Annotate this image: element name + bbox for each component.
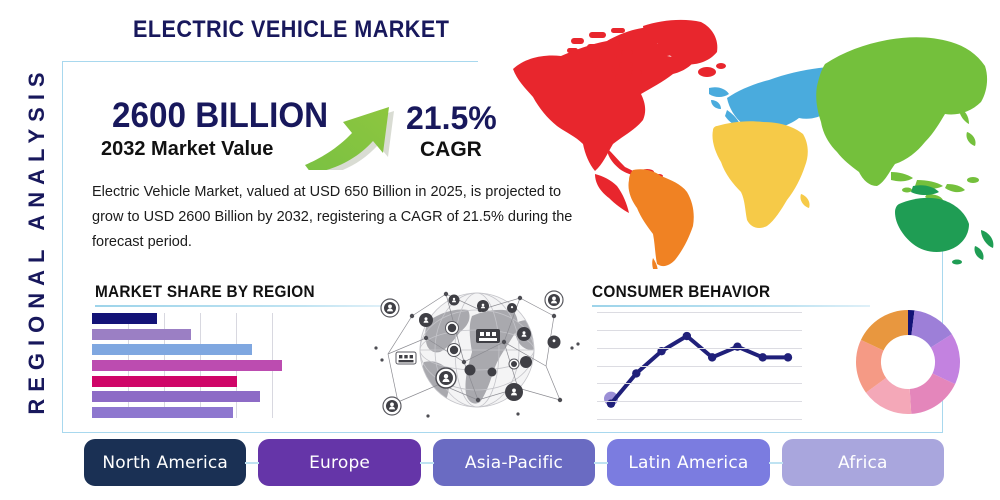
bar-segment (92, 360, 282, 371)
regional-distribution-donut-chart (852, 306, 964, 418)
gridline (597, 348, 802, 349)
growth-arrow-up-icon (299, 78, 414, 170)
vertical-section-label: REGIONAL ANALYSIS (24, 30, 60, 450)
consumer-behavior-line-chart (597, 312, 802, 419)
gridline (597, 312, 802, 313)
world-map-icon (495, 14, 1000, 269)
bar-segment (92, 376, 237, 387)
market-value-number: 2600 BILLION (112, 96, 328, 136)
gridline (597, 401, 802, 402)
page-title: ELECTRIC VEHICLE MARKET (133, 16, 449, 44)
bar-segment (92, 407, 233, 418)
line-chart-gridlines (597, 312, 802, 419)
gridline (597, 419, 802, 420)
region-button-africa[interactable]: Africa (782, 439, 944, 486)
bar-row (92, 360, 292, 371)
bar-row (92, 391, 292, 402)
region-connector (245, 462, 259, 464)
gridline (597, 383, 802, 384)
region-button-latin-america[interactable]: Latin America (607, 439, 769, 486)
section-rule-market-share (95, 305, 383, 307)
bar-segment (92, 391, 260, 402)
global-network-globe-icon (368, 276, 586, 424)
bar-row (92, 344, 292, 355)
section-title-consumer-behavior: CONSUMER BEHAVIOR (592, 283, 770, 302)
infographic-root: REGIONAL ANALYSIS ELECTRIC VEHICLE MARKE… (0, 0, 1000, 500)
cagr-value: 21.5% (406, 100, 497, 137)
region-button-europe[interactable]: Europe (258, 439, 420, 486)
region-button-asia-pacific[interactable]: Asia-Pacific (433, 439, 595, 486)
market-value-label: 2032 Market Value (101, 138, 273, 161)
region-connector (594, 462, 608, 464)
bar-segment (92, 344, 252, 355)
bar-chart-bars (92, 313, 292, 418)
bar-row (92, 376, 292, 387)
region-connector (769, 462, 783, 464)
section-title-market-share: MARKET SHARE BY REGION (95, 283, 315, 302)
market-share-bar-chart (92, 313, 292, 418)
region-connector (420, 462, 434, 464)
section-rule-consumer-behavior (592, 305, 870, 307)
bar-row (92, 407, 292, 418)
gridline (597, 330, 802, 331)
region-button-north-america[interactable]: North America (84, 439, 246, 486)
bar-segment (92, 313, 157, 324)
cagr-label: CAGR (420, 138, 482, 162)
bar-row (92, 329, 292, 340)
bar-segment (92, 329, 191, 340)
bar-row (92, 313, 292, 324)
gridline (597, 366, 802, 367)
region-button-group[interactable]: North AmericaEuropeAsia-PacificLatin Ame… (84, 439, 944, 486)
